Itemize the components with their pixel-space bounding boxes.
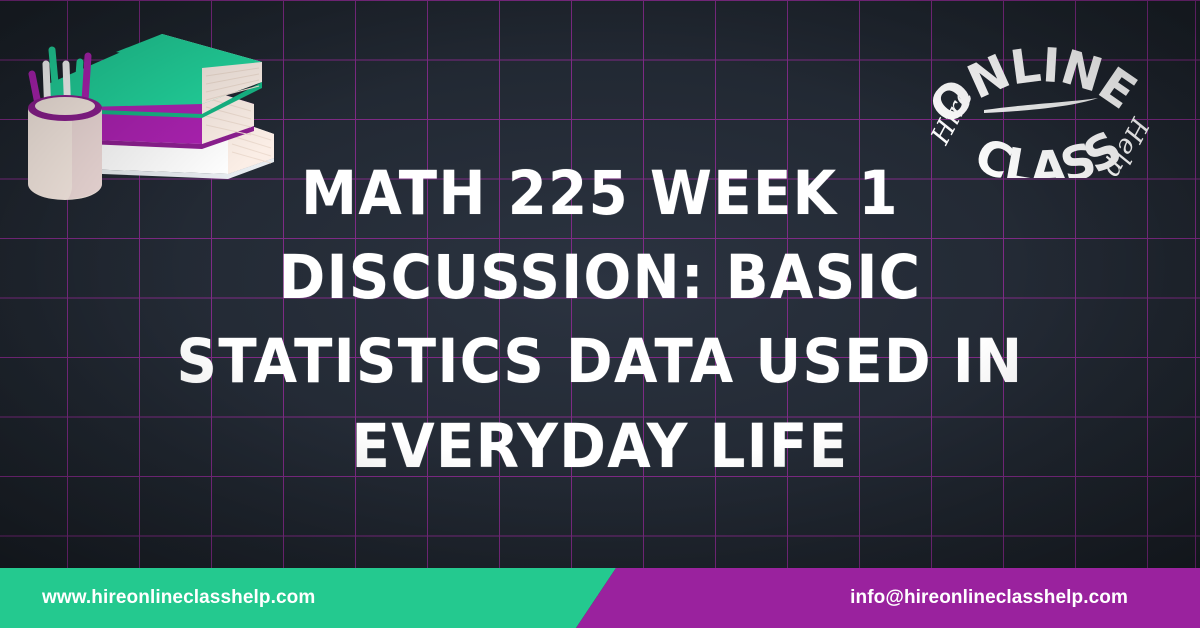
page-title-line-3: Statistics Data Used In [112, 320, 1087, 404]
logo-line1: ONLINE [922, 38, 1145, 136]
page-title: Math 225 Week 1 Discussion: Basic Statis… [112, 152, 1087, 489]
page-title-line-2: Discussion: Basic [112, 236, 1087, 320]
footer-website-link[interactable]: www.hireonlineclasshelp.com [42, 568, 315, 628]
page-title-line-1: Math 225 Week 1 [112, 152, 1087, 236]
footer-bar: www.hireonlineclasshelp.com info@hireonl… [0, 568, 1200, 628]
footer-email-link[interactable]: info@hireonlineclasshelp.com [850, 568, 1128, 628]
page-title-line-4: Everyday Life [112, 405, 1087, 489]
promo-banner: Hire ONLINE CLASS Help Math 225 Week 1 D… [0, 0, 1200, 628]
